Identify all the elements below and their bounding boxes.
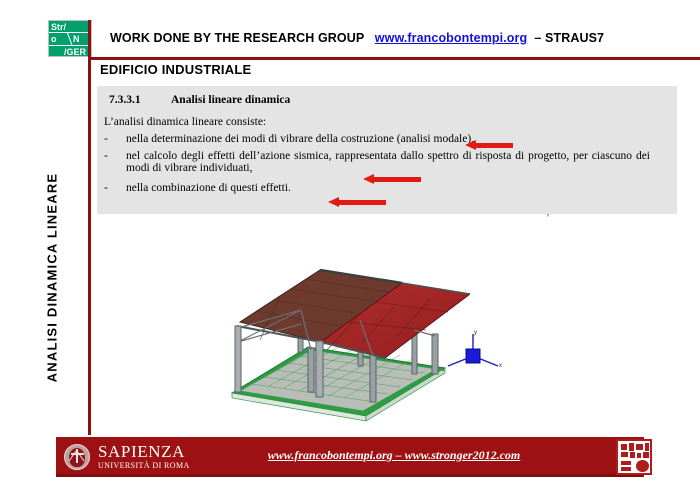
- annotation-arrow: [328, 197, 386, 208]
- arrow-shaft: [475, 143, 513, 148]
- axis-triad: y x z: [440, 330, 510, 386]
- svg-text:z: z: [442, 367, 445, 373]
- stray-mark: ’: [546, 212, 550, 224]
- stronger-logo-row-2: o N: [49, 33, 91, 45]
- stronger-logo-text-ger: /GER: [64, 46, 86, 57]
- sidebar-chapter-label: ANALISI DINAMICA LINEARE: [45, 148, 60, 408]
- stronger-logo-row-1: Str/: [49, 21, 91, 33]
- footer-bar: SAPIENZA UNIVERSITÀ DI ROMA www.francobo…: [56, 437, 644, 477]
- stronger-logo-text-str: Str/: [51, 21, 66, 33]
- stronger-logo-text-o: o: [51, 33, 57, 45]
- left-vertical-rule: [88, 20, 91, 435]
- list-item: - nel calcolo degli effetti dell’azione …: [104, 150, 650, 174]
- header-title-suffix: – STRAUS7: [534, 31, 604, 45]
- header-divider-rule: [88, 57, 700, 60]
- university-subtitle: UNIVERSITÀ DI ROMA: [98, 461, 190, 471]
- annotation-arrow: [465, 140, 513, 151]
- header-website-link[interactable]: www.francobontempi.org: [375, 31, 527, 45]
- stronger-logo-row-3: /GER: [49, 46, 91, 57]
- header-title-prefix: WORK DONE BY THE RESEARCH GROUP: [110, 31, 364, 45]
- annotation-arrow: [363, 174, 421, 185]
- header-title: WORK DONE BY THE RESEARCH GROUP www.fran…: [110, 31, 670, 45]
- stronger-logo-slash: [67, 33, 73, 46]
- stronger-logo-text-n: N: [73, 33, 80, 45]
- university-name: SAPIENZA: [98, 442, 190, 461]
- arrow-shaft: [373, 177, 421, 182]
- svg-text:x: x: [499, 363, 502, 369]
- slide-canvas: Str/ o N /GER WORK DONE BY THE RESEARCH …: [0, 0, 700, 494]
- sapienza-crest-icon: [64, 444, 90, 470]
- bullet-text: nella determinazione dei modi di vibrare…: [126, 133, 650, 145]
- sapienza-wordmark: SAPIENZA UNIVERSITÀ DI ROMA: [98, 442, 190, 471]
- section-title: Analisi lineare dinamica: [171, 94, 290, 106]
- section-number: 7.3.3.1: [109, 94, 171, 106]
- section-heading: 7.3.3.1Analisi lineare dinamica: [109, 94, 290, 106]
- bullet-dash: -: [104, 150, 118, 162]
- arrow-shaft: [338, 200, 386, 205]
- structural-model-figure: [180, 250, 470, 425]
- bullet-text: nel calcolo degli effetti dell’azione si…: [126, 150, 650, 174]
- bullet-dash: -: [104, 133, 118, 145]
- footer-accent-rule: [56, 474, 644, 477]
- content-text-panel: 7.3.3.1Analisi lineare dinamica L’analis…: [97, 86, 677, 214]
- list-item: - nella determinazione dei modi di vibra…: [104, 133, 650, 145]
- footer-links[interactable]: www.francobontempi.org – www.stronger201…: [224, 448, 564, 463]
- page-title: EDIFICIO INDUSTRIALE: [100, 62, 251, 77]
- bullet-dash: -: [104, 182, 118, 194]
- stronger-logo[interactable]: Str/ o N /GER: [48, 20, 92, 57]
- svg-text:y: y: [474, 330, 477, 336]
- panel-intro-text: L’analisi dinamica lineare consiste:: [104, 116, 266, 128]
- fbo-logo-icon[interactable]: [616, 439, 652, 475]
